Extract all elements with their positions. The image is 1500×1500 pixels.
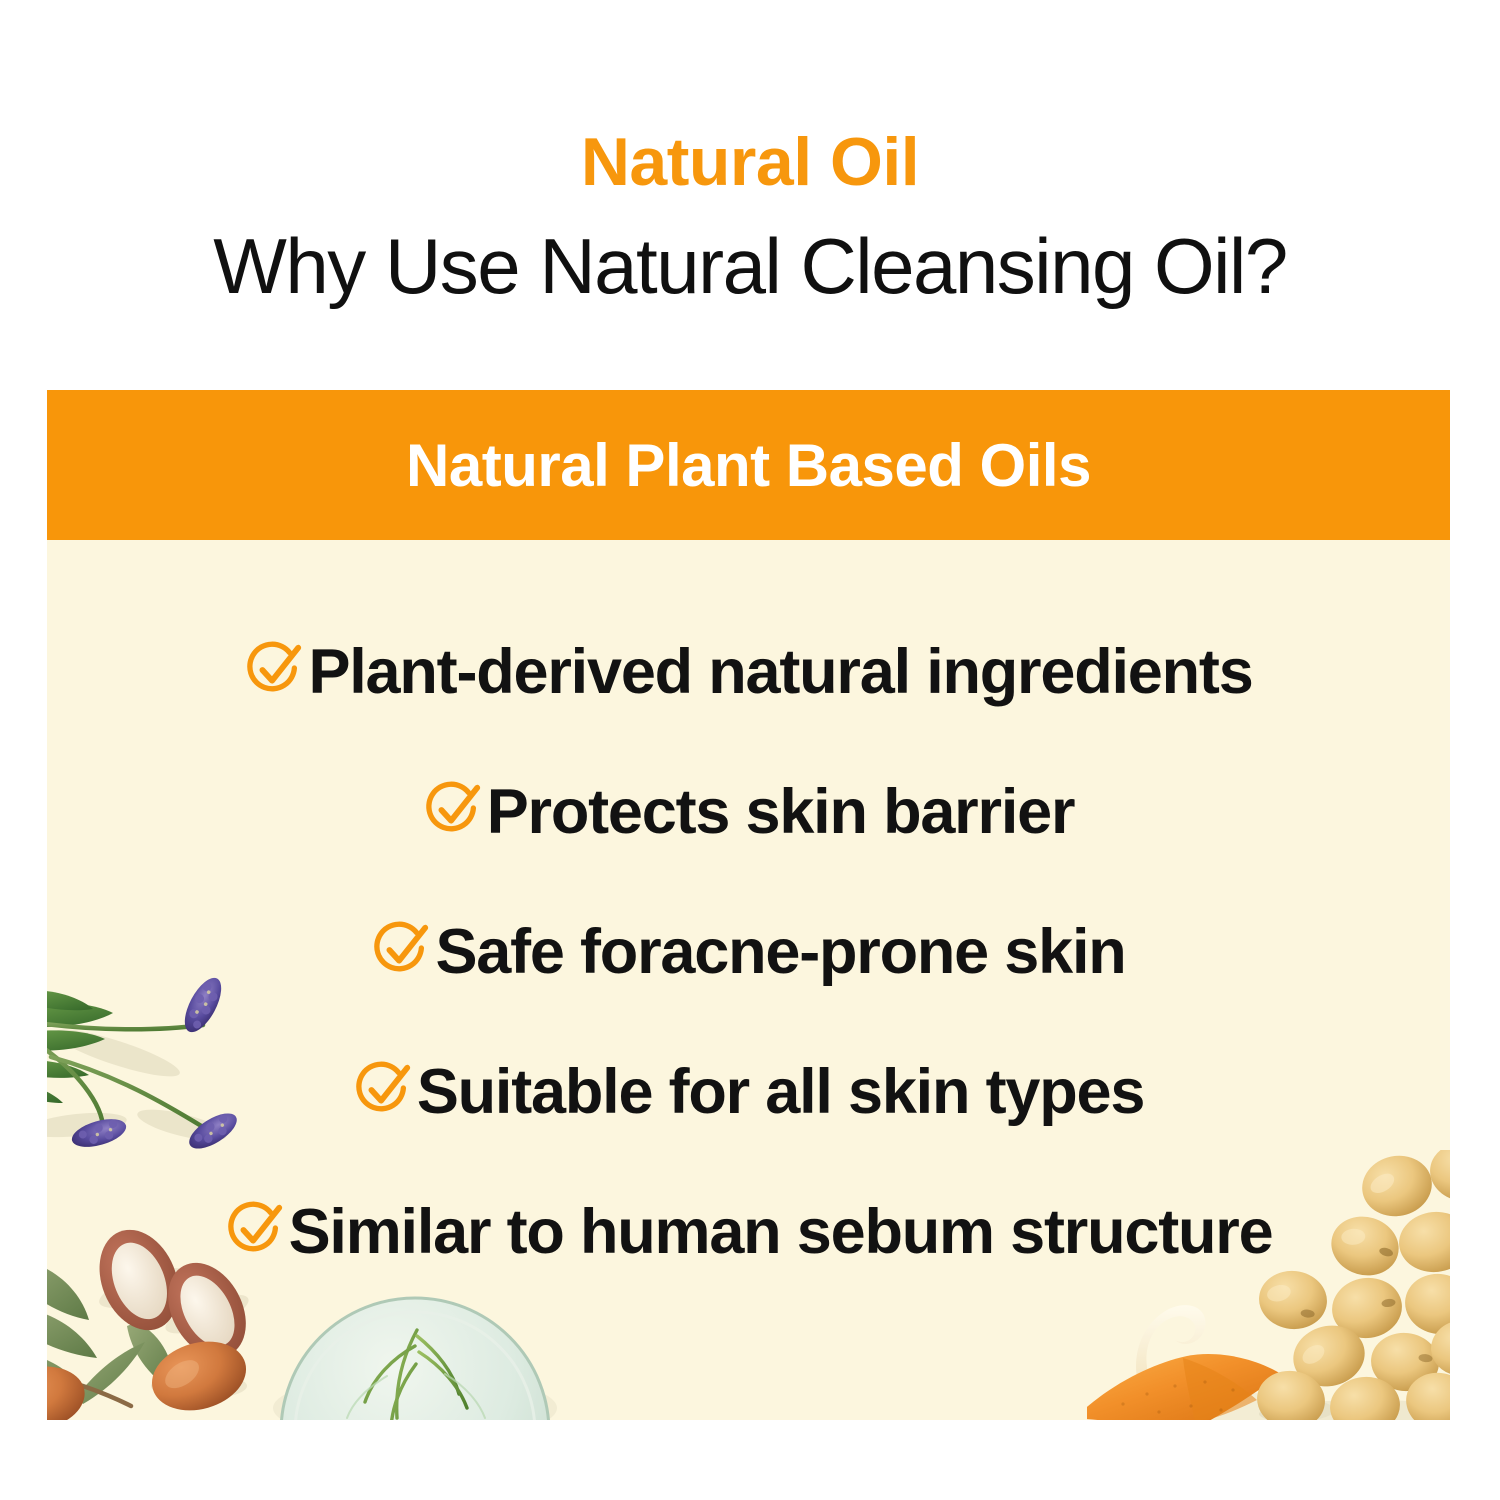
benefit-label: Plant-derived natural ingredients	[308, 641, 1252, 704]
card-header-title: Natural Plant Based Oils	[406, 431, 1091, 500]
list-item: Plant-derived natural ingredients	[47, 602, 1450, 742]
benefits-card: Natural Plant Based Oils	[47, 390, 1450, 1420]
card-header-band: Natural Plant Based Oils	[47, 390, 1450, 540]
check-circle-icon	[244, 639, 306, 701]
list-item: Suitable for all skin types	[47, 1022, 1450, 1162]
infographic-page: Natural Oil Why Use Natural Cleansing Oi…	[0, 0, 1500, 1500]
benefit-label: Suitable for all skin types	[417, 1061, 1144, 1124]
benefit-label: Similar to human sebum structure	[289, 1201, 1273, 1264]
check-circle-icon	[353, 1059, 415, 1121]
check-circle-icon	[371, 919, 433, 981]
page-title: Why Use Natural Cleansing Oil?	[0, 226, 1500, 308]
benefit-label: Protects skin barrier	[487, 781, 1075, 844]
check-circle-icon	[225, 1199, 287, 1261]
list-item: Protects skin barrier	[47, 742, 1450, 882]
benefits-list: Plant-derived natural ingredients Protec…	[47, 540, 1450, 1420]
benefit-label: Safe foracne-prone skin	[435, 921, 1125, 984]
check-circle-icon	[423, 779, 485, 841]
list-item: Similar to human sebum structure	[47, 1162, 1450, 1302]
list-item: Safe foracne-prone skin	[47, 882, 1450, 1022]
eyebrow-title: Natural Oil	[0, 128, 1500, 196]
